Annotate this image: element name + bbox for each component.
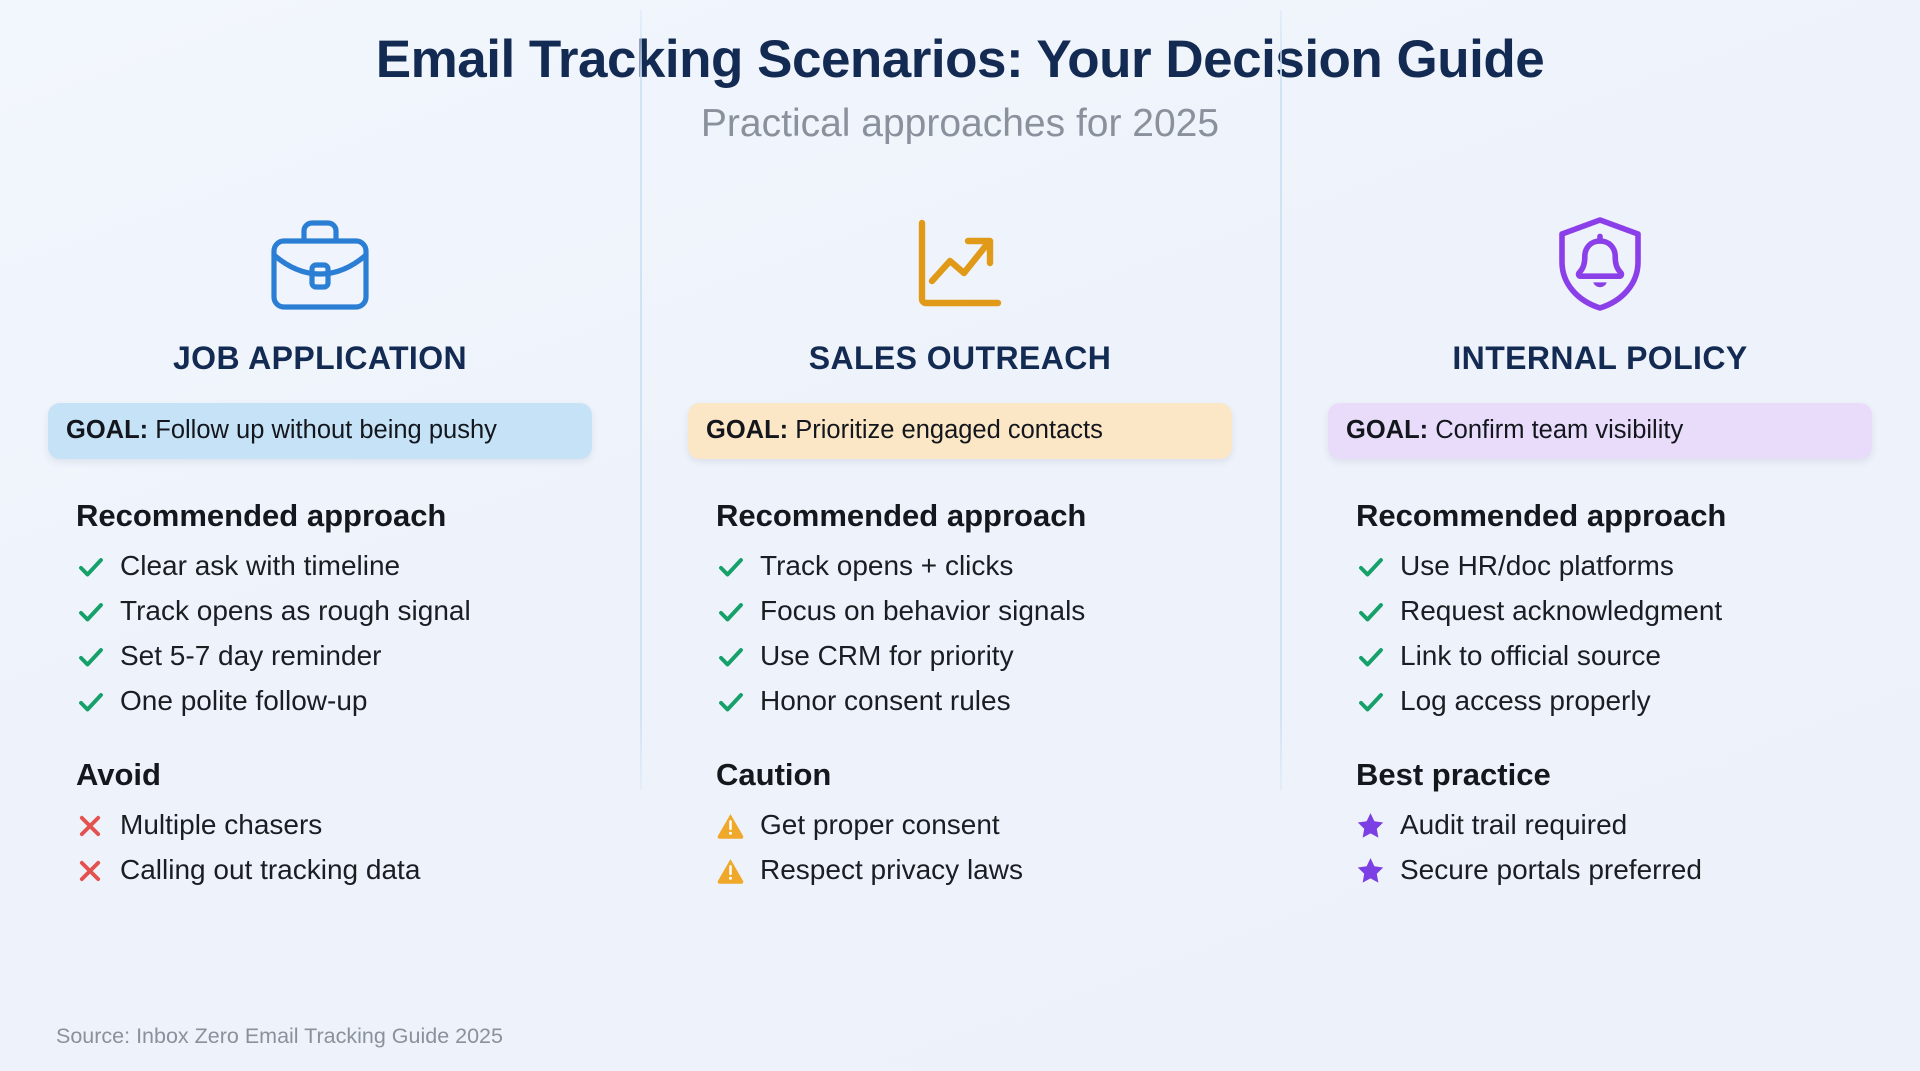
section-heading: Recommended approach xyxy=(716,497,1232,534)
section-heading: Recommended approach xyxy=(76,497,592,534)
list-item-label: Secure portals preferred xyxy=(1398,850,1702,891)
goal-label: GOAL: xyxy=(706,416,788,444)
list-item: Multiple chasers xyxy=(76,803,592,848)
list-item: Calling out tracking data xyxy=(76,848,592,893)
column-section: Recommended approachUse HR/doc platforms… xyxy=(1328,497,1872,724)
warning-icon xyxy=(716,850,758,891)
column-title: JOB APPLICATION xyxy=(48,340,592,377)
star-icon xyxy=(1356,850,1398,891)
goal-badge: GOAL: Prioritize engaged contacts xyxy=(688,403,1232,459)
check-icon xyxy=(1356,681,1398,722)
list-item-label: Audit trail required xyxy=(1398,805,1627,846)
list-item-label: Use CRM for priority xyxy=(758,636,1014,677)
column-section: AvoidMultiple chasersCalling out trackin… xyxy=(48,756,592,893)
list-item-label: One polite follow-up xyxy=(118,681,367,722)
list-item-label: Log access properly xyxy=(1398,681,1651,722)
list-item: Get proper consent xyxy=(716,803,1232,848)
star-icon xyxy=(1356,805,1398,846)
column-title: INTERNAL POLICY xyxy=(1328,340,1872,377)
check-icon xyxy=(1356,546,1398,587)
list-item-label: Clear ask with timeline xyxy=(118,546,400,587)
shield-bell-icon xyxy=(1328,206,1872,322)
list-item-label: Get proper consent xyxy=(758,805,1000,846)
column-title: SALES OUTREACH xyxy=(688,340,1232,377)
section-list: Track opens + clicksFocus on behavior si… xyxy=(716,544,1232,724)
check-icon xyxy=(1356,591,1398,632)
check-icon xyxy=(716,591,758,632)
check-icon xyxy=(716,546,758,587)
section-heading: Best practice xyxy=(1356,756,1872,793)
list-item: Clear ask with timeline xyxy=(76,544,592,589)
check-icon xyxy=(76,681,118,722)
list-item-label: Respect privacy laws xyxy=(758,850,1023,891)
column-section: Recommended approachClear ask with timel… xyxy=(48,497,592,724)
column-section: CautionGet proper consentRespect privacy… xyxy=(688,756,1232,893)
list-item-label: Link to official source xyxy=(1398,636,1661,677)
list-item: Focus on behavior signals xyxy=(716,589,1232,634)
section-heading: Avoid xyxy=(76,756,592,793)
goal-value: Follow up without being pushy xyxy=(155,416,497,444)
check-icon xyxy=(716,681,758,722)
column-section: Best practiceAudit trail requiredSecure … xyxy=(1328,756,1872,893)
scenario-column-2: SALES OUTREACHGOAL: Prioritize engaged c… xyxy=(640,206,1280,996)
list-item: Respect privacy laws xyxy=(716,848,1232,893)
scenario-column-1: JOB APPLICATIONGOAL: Follow up without b… xyxy=(0,206,640,996)
section-list: Audit trail requiredSecure portals prefe… xyxy=(1356,803,1872,893)
columns-container: JOB APPLICATIONGOAL: Follow up without b… xyxy=(0,206,1920,996)
section-list: Get proper consentRespect privacy laws xyxy=(716,803,1232,893)
list-item: Set 5-7 day reminder xyxy=(76,634,592,679)
list-item: Use CRM for priority xyxy=(716,634,1232,679)
list-item: One polite follow-up xyxy=(76,679,592,724)
growth-chart-icon xyxy=(688,206,1232,322)
list-item-label: Use HR/doc platforms xyxy=(1398,546,1674,587)
briefcase-icon xyxy=(48,206,592,322)
list-item: Link to official source xyxy=(1356,634,1872,679)
header: Email Tracking Scenarios: Your Decision … xyxy=(0,0,1920,146)
warning-icon xyxy=(716,805,758,846)
section-heading: Caution xyxy=(716,756,1232,793)
list-item: Secure portals preferred xyxy=(1356,848,1872,893)
list-item-label: Request acknowledgment xyxy=(1398,591,1722,632)
section-list: Clear ask with timelineTrack opens as ro… xyxy=(76,544,592,724)
check-icon xyxy=(76,546,118,587)
check-icon xyxy=(716,636,758,677)
check-icon xyxy=(1356,636,1398,677)
check-icon xyxy=(76,591,118,632)
list-item-label: Track opens + clicks xyxy=(758,546,1013,587)
goal-badge: GOAL: Confirm team visibility xyxy=(1328,403,1872,459)
list-item-label: Multiple chasers xyxy=(118,805,322,846)
list-item: Use HR/doc platforms xyxy=(1356,544,1872,589)
section-list: Multiple chasersCalling out tracking dat… xyxy=(76,803,592,893)
goal-badge: GOAL: Follow up without being pushy xyxy=(48,403,592,459)
goal-label: GOAL: xyxy=(1346,416,1428,444)
page-subtitle: Practical approaches for 2025 xyxy=(0,103,1920,146)
list-item-label: Honor consent rules xyxy=(758,681,1011,722)
cross-icon xyxy=(76,850,118,891)
section-list: Use HR/doc platformsRequest acknowledgme… xyxy=(1356,544,1872,724)
page-title: Email Tracking Scenarios: Your Decision … xyxy=(0,30,1920,89)
goal-value: Confirm team visibility xyxy=(1435,416,1683,444)
check-icon xyxy=(76,636,118,677)
list-item-label: Set 5-7 day reminder xyxy=(118,636,381,677)
list-item-label: Track opens as rough signal xyxy=(118,591,471,632)
column-section: Recommended approachTrack opens + clicks… xyxy=(688,497,1232,724)
list-item: Track opens as rough signal xyxy=(76,589,592,634)
list-item-label: Focus on behavior signals xyxy=(758,591,1085,632)
list-item: Audit trail required xyxy=(1356,803,1872,848)
infographic-page: Email Tracking Scenarios: Your Decision … xyxy=(0,0,1920,1071)
list-item-label: Calling out tracking data xyxy=(118,850,420,891)
section-heading: Recommended approach xyxy=(1356,497,1872,534)
goal-label: GOAL: xyxy=(66,416,148,444)
cross-icon xyxy=(76,805,118,846)
list-item: Track opens + clicks xyxy=(716,544,1232,589)
list-item: Request acknowledgment xyxy=(1356,589,1872,634)
goal-value: Prioritize engaged contacts xyxy=(795,416,1103,444)
list-item: Honor consent rules xyxy=(716,679,1232,724)
source-note: Source: Inbox Zero Email Tracking Guide … xyxy=(56,1024,503,1049)
scenario-column-3: INTERNAL POLICYGOAL: Confirm team visibi… xyxy=(1280,206,1920,996)
list-item: Log access properly xyxy=(1356,679,1872,724)
